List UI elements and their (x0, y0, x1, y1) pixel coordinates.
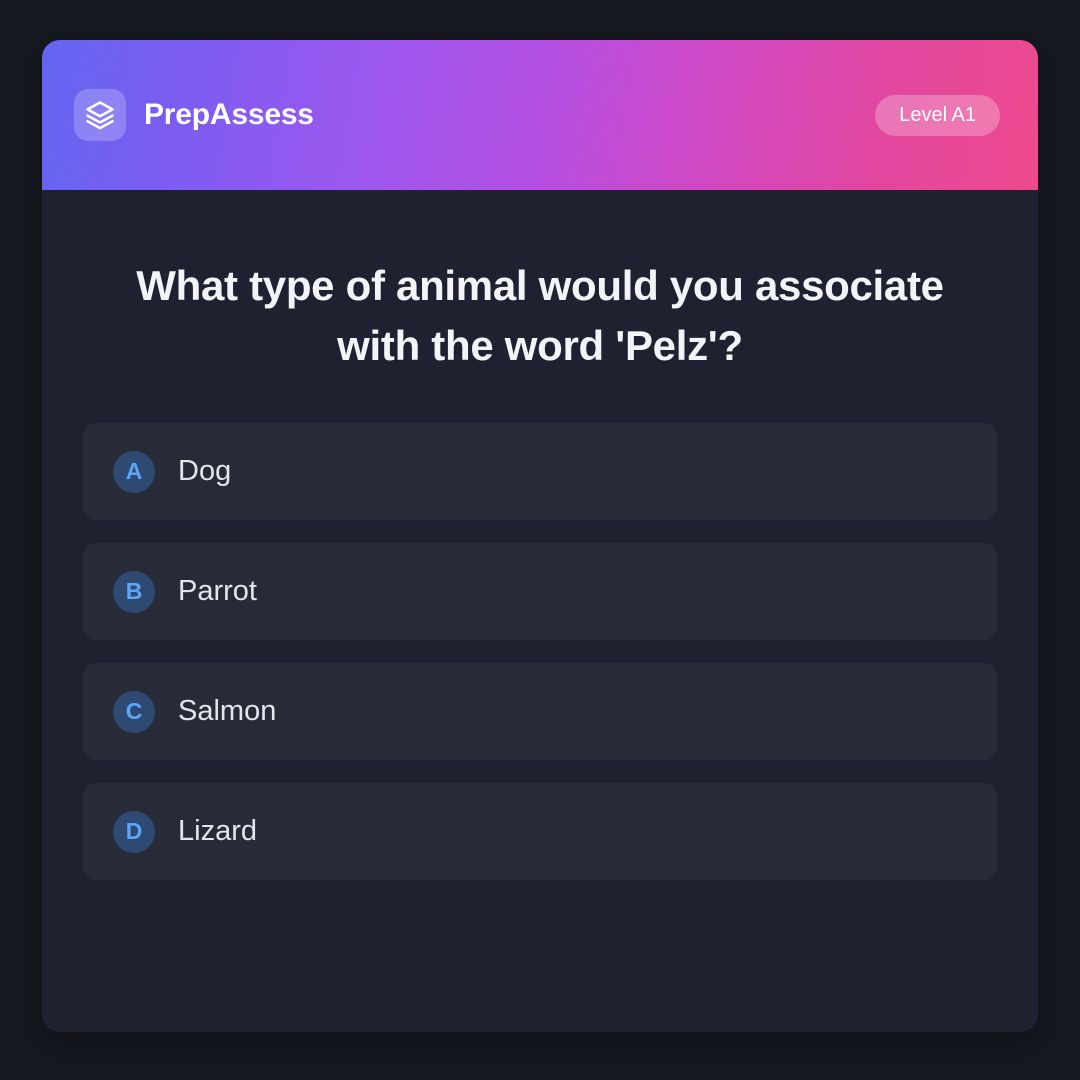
option-key-badge-b: B (113, 571, 155, 613)
option-row-a[interactable]: A Dog (83, 423, 997, 520)
options-list: A Dog B Parrot C Salmon D Lizard (83, 423, 997, 880)
option-row-b[interactable]: B Parrot (83, 543, 997, 640)
option-label-a: Dog (178, 455, 231, 488)
option-key-badge-c: C (113, 691, 155, 733)
app-header: PrepAssess Level A1 (42, 40, 1038, 190)
option-row-c[interactable]: C Salmon (83, 663, 997, 760)
option-row-d[interactable]: D Lizard (83, 783, 997, 880)
layers-stack-icon (74, 89, 126, 141)
option-key-badge-a: A (113, 451, 155, 493)
quiz-card: PrepAssess Level A1 What type of animal … (42, 40, 1038, 1032)
option-label-c: Salmon (178, 695, 276, 728)
option-label-b: Parrot (178, 575, 257, 608)
option-key-badge-d: D (113, 811, 155, 853)
option-label-d: Lizard (178, 815, 257, 848)
question-text: What type of animal would you associate … (93, 256, 987, 375)
quiz-body: What type of animal would you associate … (42, 190, 1038, 880)
level-badge: Level A1 (875, 95, 1000, 136)
brand: PrepAssess (74, 89, 314, 141)
app-name: PrepAssess (144, 98, 314, 132)
